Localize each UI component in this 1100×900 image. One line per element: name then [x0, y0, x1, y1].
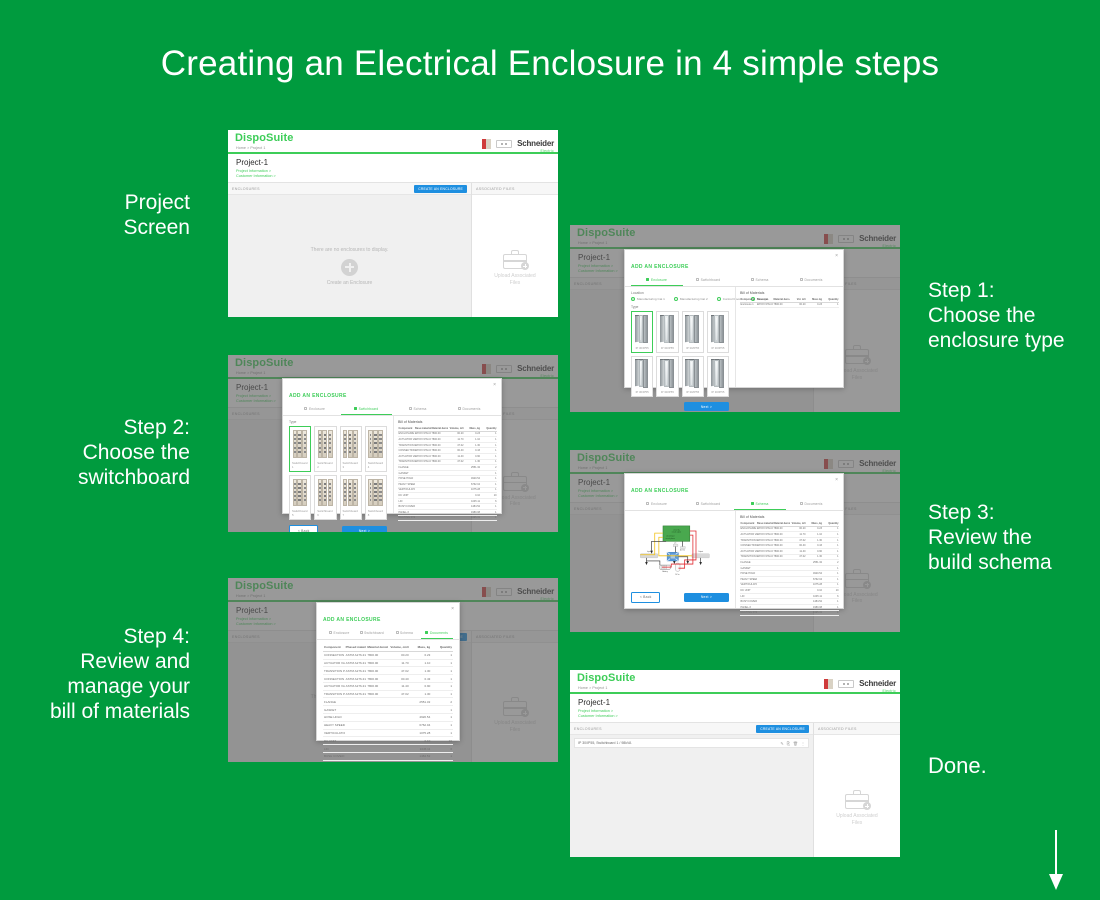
table-cell	[345, 714, 367, 722]
modal-header: ADD AN ENCLOSURE ×	[625, 250, 843, 275]
enclosure-thumbnail-icon	[710, 314, 726, 344]
enclosure-card[interactable]: IP 30/IP55	[656, 356, 678, 398]
enclosures-section-bar: ENCLOSURES CREATE AN ENCLOSURE	[228, 183, 471, 195]
table-cell: 2551.32	[410, 698, 432, 706]
tab-marker-icon	[696, 278, 699, 281]
tab-marker-icon	[800, 278, 803, 281]
header-right-tools: Schneider Electric	[482, 359, 554, 378]
screenshot-step4: DispoSuite Home > Project 1 Schneider El…	[228, 578, 558, 762]
table-cell	[366, 745, 388, 753]
close-icon[interactable]: ×	[493, 383, 496, 388]
associated-files-column: ASSOCIATED FILES Upload Associated Files	[472, 183, 558, 317]
table-cell: ASTM A276-316L	[345, 690, 367, 698]
table-cell	[415, 515, 432, 521]
bom-table: Component Phased material Material densi…	[323, 644, 453, 762]
table-cell	[366, 729, 388, 737]
tab-schema[interactable]: Schema	[734, 275, 786, 286]
location-label: Location	[631, 291, 729, 295]
avatar-icon[interactable]	[482, 587, 491, 597]
table-cell: 1484.52	[410, 752, 432, 760]
switchboard-thumbnail-icon	[343, 429, 359, 459]
header-right-tools: Schneider Electric	[482, 134, 554, 153]
tab-schema[interactable]: Schema	[734, 499, 786, 510]
associated-files-label: ASSOCIATED FILES	[818, 727, 857, 731]
add-enclosure-modal: ADD AN ENCLOSURE × Enclosure Switchboard…	[624, 249, 844, 388]
screenshot-done: DispoSuite Home > Project 1 Schneider El…	[570, 670, 900, 857]
enclosure-card[interactable]: IP 30/IP55	[656, 311, 678, 353]
type-label: Type	[289, 420, 387, 424]
caption-line: enclosure type	[928, 328, 1093, 353]
upload-area[interactable]: Upload Associated Files	[472, 250, 558, 286]
table-cell: CONNECTION 1	[323, 675, 345, 683]
switchboard-thumbnail-icon	[317, 429, 333, 459]
briefcase-add-icon	[845, 790, 869, 809]
upload-text: Upload Associated Files	[472, 273, 558, 286]
bom-body-step3: ENCLOSURE FRAMEEPOXY/ZN-COIL7800.0000.20…	[740, 526, 839, 616]
table-cell: 2	[431, 698, 453, 706]
tab-marker-icon	[304, 407, 307, 410]
table-cell: 7800.00	[366, 675, 388, 683]
next-button[interactable]: Next >	[342, 526, 387, 532]
table-row: TRANSITION PIECEASTM A276-316L7800.0047.…	[323, 690, 453, 698]
schema-svg: circuit by circuit output circuit input …	[631, 515, 729, 587]
switchboard-card[interactable]: Switchboard 4	[365, 426, 387, 472]
table-cell	[388, 706, 410, 714]
modal-footer: < Back Next >	[631, 587, 729, 603]
table-cell: 0.23	[410, 651, 432, 659]
table-cell: ACTUATOR VALVE	[323, 682, 345, 690]
table-row: Enclosure 1 EPOXY/ZN-CUL 7800.00 00.20 0…	[740, 302, 839, 308]
table-cell: 1	[431, 651, 453, 659]
switchboard-selection-panel: Type Switchboard 1 Switchboard 2 Switchb…	[283, 416, 393, 513]
table-cell	[388, 729, 410, 737]
app-body: ENCLOSURES CREATE AN ENCLOSURE IP 30/IP5…	[570, 723, 900, 857]
tab-marker-icon	[751, 502, 754, 505]
table-row: ACTUATOR VALVEASTM A276-316L7800.0011.70…	[323, 659, 453, 667]
table-cell	[388, 760, 410, 762]
app-brand: DispoSuite	[577, 227, 635, 239]
language-toggle-icon[interactable]	[838, 680, 854, 688]
table-cell: 0.90	[410, 682, 432, 690]
enclosures-label: ENCLOSURES	[232, 187, 260, 191]
enclosure-thumbnail-icon	[634, 314, 650, 344]
table-cell: 7800.00	[366, 667, 388, 675]
enclosure-selection-panel: Location Manufacturing Cat 1 Manufacturi…	[625, 287, 735, 387]
switchboard-card[interactable]: Switchboard 8	[365, 475, 387, 521]
enclosure-thumbnail-icon	[685, 314, 701, 344]
tab-marker-icon	[409, 407, 412, 410]
enclosure-card[interactable]: IP 30/IP55	[682, 356, 704, 398]
upload-text: Upload Associated Files	[472, 720, 558, 733]
table-cell: VERTICULATOR	[323, 729, 345, 737]
app-header: DispoSuite Home > Project 1 Schneider El…	[228, 130, 558, 154]
table-cell	[345, 737, 367, 745]
language-toggle-icon[interactable]	[838, 235, 854, 243]
modal-body: Location Manufacturing Cat 1 Manufacturi…	[625, 287, 843, 387]
table-cell	[345, 698, 367, 706]
caption-step3: Step 3: Review the build schema	[928, 500, 1093, 575]
location-option[interactable]: Manufacturing Cat 2	[674, 297, 708, 301]
modal-footer: < Back Next >	[289, 520, 387, 532]
schneider-electric-logo: Schneider Electric	[859, 454, 896, 473]
modal-body: Type Switchboard 1 Switchboard 2 Switchb…	[283, 416, 501, 513]
table-cell	[388, 714, 410, 722]
table-cell: 1.10	[410, 659, 432, 667]
table-cell: 4920.54	[410, 714, 432, 722]
enclosure-card[interactable]: IP 30/IP55	[682, 311, 704, 353]
page-title: Creating an Electrical Enclosure in 4 si…	[0, 44, 1100, 84]
close-icon[interactable]: ×	[835, 478, 838, 483]
radio-icon	[717, 297, 721, 301]
modal-header: ADD AN ENCLOSURE ×	[317, 603, 459, 628]
tab-marker-icon	[800, 502, 803, 505]
enclosure-card[interactable]: IP 30/IP55	[631, 356, 653, 398]
table-cell: 0.10	[410, 737, 432, 745]
app-header: DispoSuite Home > Project 1 Schneider El…	[570, 670, 900, 694]
tab-documents[interactable]: Documents	[444, 404, 496, 415]
schema-panel: circuit by circuit output circuit input …	[625, 511, 735, 608]
table-cell	[345, 752, 367, 760]
create-enclosure-cta[interactable]: Create an Enclosure	[228, 280, 471, 286]
project-title: Project-1	[236, 158, 550, 167]
table-cell: 11.40	[388, 682, 410, 690]
table-cell	[757, 610, 774, 616]
table-cell	[388, 737, 410, 745]
next-button[interactable]: Next >	[684, 593, 729, 602]
caption-step4: Step 4: Review and manage your bill of m…	[10, 624, 190, 724]
modal-body: Component Phased material Material densi…	[317, 640, 459, 740]
switchboard-card[interactable]: Switchboard 2	[314, 426, 336, 472]
bom-title: Bill of Materials	[398, 420, 497, 424]
copy-icon[interactable]: ⎘	[787, 741, 790, 746]
project-information-link[interactable]: Project Information >	[236, 169, 550, 173]
table-cell	[345, 745, 367, 753]
tab-enclosure[interactable]: Enclosure	[289, 404, 341, 415]
app-brand: DispoSuite	[577, 672, 635, 684]
caption-step2: Step 2: Choose the switchboard	[20, 415, 190, 490]
table-cell	[366, 714, 388, 722]
table-cell: 1045.11	[410, 745, 432, 753]
briefcase-add-icon	[503, 472, 527, 491]
table-cell: LID	[323, 745, 345, 753]
avatar-icon[interactable]	[824, 459, 833, 469]
modal-title: ADD AN ENCLOSURE	[289, 393, 347, 399]
tab-enclosure[interactable]: Enclosure	[631, 499, 683, 510]
location-option[interactable]: Manufacturing Cat 1	[631, 297, 665, 301]
create-enclosure-button[interactable]: CREATE AN ENCLOSURE	[756, 725, 809, 733]
switchboard-card[interactable]: Switchboard 5	[289, 475, 311, 521]
bill-of-materials-panel: Bill of Materials Component Base materia…	[735, 511, 843, 608]
briefcase-add-icon	[503, 697, 527, 716]
caption-line: Choose the	[20, 440, 190, 465]
modal-tabs: Enclosure Switchboard Schema Documents	[317, 628, 459, 640]
table-row: LID1045.116	[323, 745, 453, 753]
enclosures-label: ENCLOSURES	[232, 635, 260, 639]
switchboard-type-grid: Switchboard 1 Switchboard 2 Switchboard …	[289, 426, 387, 520]
close-icon[interactable]: ×	[451, 607, 454, 612]
modal-title: ADD AN ENCLOSURE	[323, 617, 381, 623]
enclosures-section-bar: ENCLOSURES CREATE AN ENCLOSURE	[570, 723, 813, 735]
table-cell	[345, 721, 367, 729]
tab-marker-icon	[425, 631, 428, 634]
briefcase-add-icon	[845, 345, 869, 364]
associated-files-column: ASSOCIATED FILES Upload Associated Files	[814, 723, 900, 857]
tab-marker-icon	[360, 631, 363, 634]
table-cell: HOSE HOLD	[323, 714, 345, 722]
table-row: CONNECTION 1ASTM A276-316L7800.0000.400.…	[323, 675, 453, 683]
tab-enclosure[interactable]: Enclosure	[631, 275, 683, 286]
header-right-tools: Schneider Electric	[824, 229, 896, 248]
table-cell	[388, 698, 410, 706]
close-icon[interactable]: ×	[835, 254, 838, 259]
table-cell: 7800.00	[366, 659, 388, 667]
enclosure-thumbnail-icon	[634, 359, 650, 389]
table-row: HEAVY SPEED HOUSE6762.041	[323, 721, 453, 729]
switchboard-thumbnail-icon	[343, 478, 359, 508]
back-button[interactable]: < Back	[631, 592, 660, 603]
table-row: PANEL-X1980.081	[323, 760, 453, 762]
tab-marker-icon	[396, 631, 399, 634]
app-header: DispoSuite Home > Project 1 Schneider El…	[228, 578, 558, 602]
breadcrumb: Home > Project 1	[578, 686, 607, 690]
modal-title: ADD AN ENCLOSURE	[631, 264, 689, 270]
schneider-electric-logo: Schneider Electric	[517, 582, 554, 601]
tab-documents[interactable]: Documents	[786, 499, 838, 510]
bill-of-materials-panel: Component Phased material Material densi…	[317, 640, 459, 740]
project-bar: Project-1 Project Information > Customer…	[570, 694, 900, 723]
language-toggle-icon[interactable]	[496, 140, 512, 148]
table-cell: 1	[431, 714, 453, 722]
modal-footer: Next >	[631, 397, 729, 411]
enclosure-row-label: IP 30/IP55, Switchboard 1 / 98kVA	[578, 741, 631, 745]
add-enclosure-modal: ADD AN ENCLOSURE × Enclosure Switchboard…	[316, 602, 460, 741]
table-cell	[345, 706, 367, 714]
edit-icon[interactable]: ✎	[780, 741, 783, 746]
switchboard-card[interactable]: Switchboard 1	[289, 426, 311, 472]
table-cell: 0.43	[410, 675, 432, 683]
breadcrumb: Home > Project 1	[578, 466, 607, 470]
caption-line: bill of materials	[10, 699, 190, 724]
table-cell	[366, 737, 388, 745]
screenshot-step3: DispoSuite Home > Project 1 Schneider El…	[570, 450, 900, 632]
enclosure-thumbnail-icon	[685, 359, 701, 389]
app-brand: DispoSuite	[235, 132, 293, 144]
table-row: BUSH COVER LINING1484.521	[323, 752, 453, 760]
down-arrow-icon	[1046, 830, 1066, 892]
associated-files-section-bar: ASSOCIATED FILES	[814, 723, 900, 735]
enclosure-card[interactable]: IP 30/IP55	[707, 356, 729, 398]
caption-line: Screen	[40, 215, 190, 240]
table-cell: 1	[481, 515, 498, 521]
table-row: GASKET1	[323, 706, 453, 714]
associated-files-label: ASSOCIATED FILES	[476, 635, 515, 639]
next-button[interactable]: Next >	[684, 402, 729, 411]
enclosure-thumbnail-icon	[659, 314, 675, 344]
more-icon[interactable]: ⋮	[801, 741, 805, 746]
modal-title: ADD AN ENCLOSURE	[631, 488, 689, 494]
briefcase-add-icon	[845, 569, 869, 588]
table-cell	[410, 706, 432, 714]
caption-line: Step 2:	[20, 415, 190, 440]
associated-files-label: ASSOCIATED FILES	[476, 187, 515, 191]
create-enclosure-button[interactable]: CREATE AN ENCLOSURE	[414, 185, 467, 193]
tab-documents[interactable]: Documents	[786, 275, 838, 286]
table-cell: PANEL-X	[323, 760, 345, 762]
tab-switchboard[interactable]: Switchboard	[341, 404, 393, 415]
table-cell	[388, 721, 410, 729]
enclosures-column: ENCLOSURES CREATE AN ENCLOSURE There are…	[228, 183, 472, 317]
avatar-icon[interactable]	[482, 364, 491, 374]
table-cell: 7800.00	[366, 682, 388, 690]
table-cell	[388, 745, 410, 753]
table-row: VERTICULATOR1075.281	[323, 729, 453, 737]
project-information-link[interactable]: Project Information >	[578, 709, 892, 713]
plus-icon[interactable]	[341, 259, 358, 276]
table-cell: 1075.28	[410, 729, 432, 737]
tab-schema[interactable]: Schema	[388, 628, 421, 639]
language-toggle-icon[interactable]	[496, 588, 512, 596]
caption-line: Choose the	[928, 303, 1093, 328]
bom-table: Component Base material Material density…	[740, 521, 839, 616]
table-cell: 1	[431, 729, 453, 737]
table-cell	[366, 698, 388, 706]
tab-switchboard[interactable]: Switchboard	[683, 499, 735, 510]
add-enclosure-modal: ADD AN ENCLOSURE × Enclosure Switchboard…	[624, 473, 844, 609]
bom-body-step4: CONNECTION 1ASTM A276-316L7800.0000.200.…	[323, 651, 453, 762]
avatar-icon[interactable]	[482, 139, 491, 149]
tab-marker-icon	[751, 278, 754, 281]
tab-documents[interactable]: Documents	[421, 628, 454, 639]
table-cell: CONNECTION 1	[323, 651, 345, 659]
table-cell: DUCTING STRIDER	[740, 610, 757, 616]
table-cell: ACTUATOR VALVE	[323, 659, 345, 667]
app-body: ENCLOSURES CREATE AN ENCLOSURE There are…	[228, 183, 558, 317]
delete-icon[interactable]: 🗑	[793, 741, 798, 746]
schneider-electric-logo: Schneider Electric	[517, 359, 554, 378]
enclosure-card[interactable]: IP 30/IP55	[707, 311, 729, 353]
caption-line: Review and	[10, 649, 190, 674]
enclosures-column: ENCLOSURES CREATE AN ENCLOSURE IP 30/IP5…	[570, 723, 814, 857]
project-title: Project-1	[578, 698, 892, 707]
enclosure-thumbnail-icon	[659, 359, 675, 389]
app-header: DispoSuite Home > Project 1 Schneider El…	[228, 355, 558, 379]
table-row: TRANSITION PIECEASTM A276-316L7800.0047.…	[323, 667, 453, 675]
caption-line: Review the	[928, 525, 1093, 550]
avatar-icon[interactable]	[824, 234, 833, 244]
modal-tabs: Enclosure Switchboard Schema Documents	[625, 499, 843, 511]
tab-enclosure[interactable]: Enclosure	[323, 628, 356, 639]
associated-files-section-bar: ASSOCIATED FILES	[472, 631, 558, 643]
enclosures-label: ENCLOSURES	[574, 507, 602, 511]
table-row: CONNECTION 1ASTM A276-316L7800.0000.200.…	[323, 651, 453, 659]
caption-line: manage your	[10, 674, 190, 699]
schneider-electric-logo: Schneider Electric	[517, 134, 554, 153]
enclosures-label: ENCLOSURES	[574, 282, 602, 286]
app-header: DispoSuite Home > Project 1 Schneider El…	[570, 225, 900, 249]
switchboard-card[interactable]: Switchboard 3	[340, 426, 362, 472]
tab-marker-icon	[646, 278, 649, 281]
table-row: FLANGE2551.322	[323, 698, 453, 706]
screenshot-step1: DispoSuite Home > Project 1 Schneider El…	[570, 225, 900, 412]
switchboard-thumbnail-icon	[317, 478, 333, 508]
table-cell: 1995.31	[806, 610, 823, 616]
screenshot-project-screen: DispoSuite Home > Project 1 Schneider El…	[228, 130, 558, 317]
location-radio-group: Manufacturing Cat 1 Manufacturing Cat 2 …	[631, 297, 729, 301]
radio-icon	[631, 297, 635, 301]
tab-switchboard[interactable]: Switchboard	[683, 275, 735, 286]
table-cell: DC UNIT	[323, 737, 345, 745]
radio-icon	[674, 297, 678, 301]
table-cell: ASTM A276-316L	[345, 675, 367, 683]
switchboard-card[interactable]: Switchboard 6	[314, 475, 336, 521]
table-cell: 1	[431, 690, 453, 698]
customer-information-link[interactable]: Customer Information >	[236, 174, 550, 178]
list-item[interactable]: IP 30/IP55, Switchboard 1 / 98kVA ✎ ⎘ 🗑 …	[574, 738, 809, 748]
customer-information-link[interactable]: Customer Information >	[578, 714, 892, 718]
add-enclosure-modal: ADD AN ENCLOSURE × Enclosure Switchboard…	[282, 378, 502, 514]
svg-text:pin: pin	[674, 542, 676, 544]
back-button[interactable]: < Back	[289, 525, 318, 532]
switchboard-card[interactable]: Switchboard 7	[340, 475, 362, 521]
bill-of-materials-panel: Bill of Materials Component Base mat. Ma…	[735, 287, 843, 387]
table-cell: 6762.04	[410, 721, 432, 729]
schneider-electric-logo: Schneider Electric	[859, 674, 896, 693]
bom-title: Bill of Materials	[740, 515, 839, 519]
bom-table: Component Base mat. Material dens. Vol. …	[740, 297, 839, 308]
table-cell: 1980.08	[410, 760, 432, 762]
table-cell: DUCTING STRIDER	[398, 515, 415, 521]
tab-schema[interactable]: Schema	[392, 404, 444, 415]
enclosure-row-actions: ✎ ⎘ 🗑 ⋮	[780, 741, 805, 746]
table-cell	[790, 610, 807, 616]
enclosures-label: ENCLOSURES	[574, 727, 602, 731]
tab-marker-icon	[354, 407, 357, 410]
breadcrumb: Home > Project 1	[236, 146, 265, 150]
table-cell	[431, 515, 448, 521]
language-toggle-icon[interactable]	[838, 460, 854, 468]
enclosure-card[interactable]: IP 30/IP55	[631, 311, 653, 353]
modal-header: ADD AN ENCLOSURE ×	[625, 474, 843, 499]
table-cell: ASTM A276-316L	[345, 659, 367, 667]
table-cell: 1	[431, 682, 453, 690]
table-cell	[345, 760, 367, 762]
upload-area[interactable]: Upload Associated Files	[814, 790, 900, 826]
table-cell: 7800.00	[366, 690, 388, 698]
switchboard-thumbnail-icon	[292, 429, 308, 459]
caption-done: Done.	[928, 753, 1093, 778]
modal-header: ADD AN ENCLOSURE ×	[283, 379, 501, 404]
breadcrumb: Home > Project 1	[236, 594, 265, 598]
table-cell	[345, 729, 367, 737]
table-cell: 1	[431, 706, 453, 714]
table-cell: 11.70	[388, 659, 410, 667]
table-cell	[366, 752, 388, 760]
table-row: DUCTING STRIDER1995.311	[740, 610, 839, 616]
tab-marker-icon	[329, 631, 332, 634]
avatar-icon[interactable]	[824, 679, 833, 689]
table-cell: 00.40	[388, 675, 410, 683]
caption-line: Step 3:	[928, 500, 1093, 525]
breadcrumb: Home > Project 1	[578, 241, 607, 245]
upload-text: Upload Associated Files	[814, 813, 900, 826]
enclosures-label: ENCLOSURES	[232, 412, 260, 416]
tab-switchboard[interactable]: Switchboard	[356, 628, 389, 639]
schneider-electric-logo: Schneider Electric	[859, 229, 896, 248]
table-cell: 1	[431, 721, 453, 729]
upload-area[interactable]: Upload Associated Files	[472, 697, 558, 733]
switchboard-thumbnail-icon	[292, 478, 308, 508]
language-toggle-icon[interactable]	[496, 365, 512, 373]
